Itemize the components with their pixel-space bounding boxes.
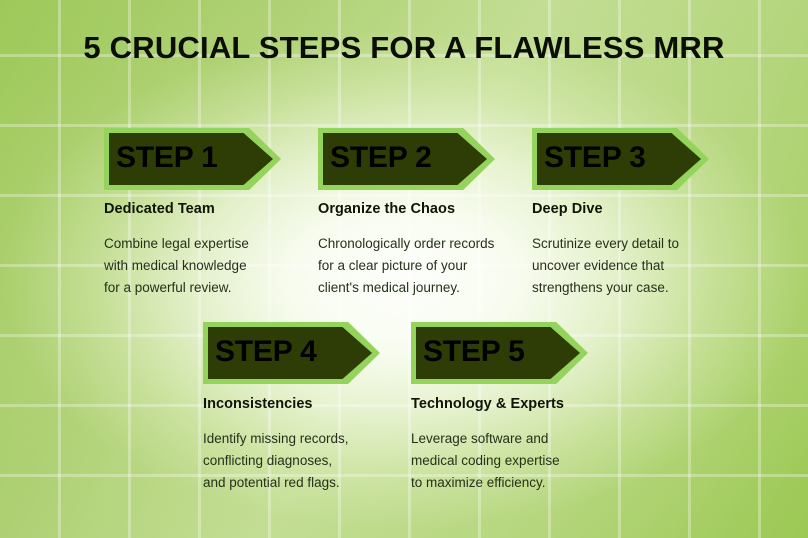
step-badge-label-5: STEP 5: [423, 326, 573, 378]
infographic-poster: 5 CRUCIAL STEPS FOR A FLAWLESS MRR STEP …: [0, 0, 808, 538]
step-body-3: Scrutinize every detail to uncover evide…: [532, 233, 747, 299]
step-badge-4: STEP 4: [203, 322, 380, 384]
step-subtitle-2: Organize the Chaos: [318, 201, 533, 217]
step-subtitle-4: Inconsistencies: [203, 396, 418, 412]
step-badge-label-4: STEP 4: [215, 326, 365, 378]
step-card-1: STEP 1 Dedicated Team Combine legal expe…: [104, 128, 319, 299]
step-subtitle-3: Deep Dive: [532, 201, 747, 217]
step-badge-label-3: STEP 3: [544, 132, 694, 184]
step-body-2: Chronologically order records for a clea…: [318, 233, 533, 299]
step-card-5: STEP 5 Technology & Experts Leverage sof…: [411, 322, 626, 494]
step-badge-label-2: STEP 2: [330, 132, 480, 184]
step-card-4: STEP 4 Inconsistencies Identify missing …: [203, 322, 418, 494]
step-body-4: Identify missing records, conflicting di…: [203, 428, 418, 494]
step-body-1: Combine legal expertise with medical kno…: [104, 233, 319, 299]
step-subtitle-5: Technology & Experts: [411, 396, 626, 412]
step-body-5: Leverage software and medical coding exp…: [411, 428, 626, 494]
step-subtitle-1: Dedicated Team: [104, 201, 319, 217]
step-badge-1: STEP 1: [104, 128, 281, 190]
step-badge-label-1: STEP 1: [116, 132, 266, 184]
step-card-3: STEP 3 Deep Dive Scrutinize every detail…: [532, 128, 747, 299]
step-badge-5: STEP 5: [411, 322, 588, 384]
step-card-2: STEP 2 Organize the Chaos Chronologicall…: [318, 128, 533, 299]
step-badge-2: STEP 2: [318, 128, 495, 190]
step-badge-3: STEP 3: [532, 128, 709, 190]
poster-title: 5 CRUCIAL STEPS FOR A FLAWLESS MRR: [0, 30, 808, 66]
